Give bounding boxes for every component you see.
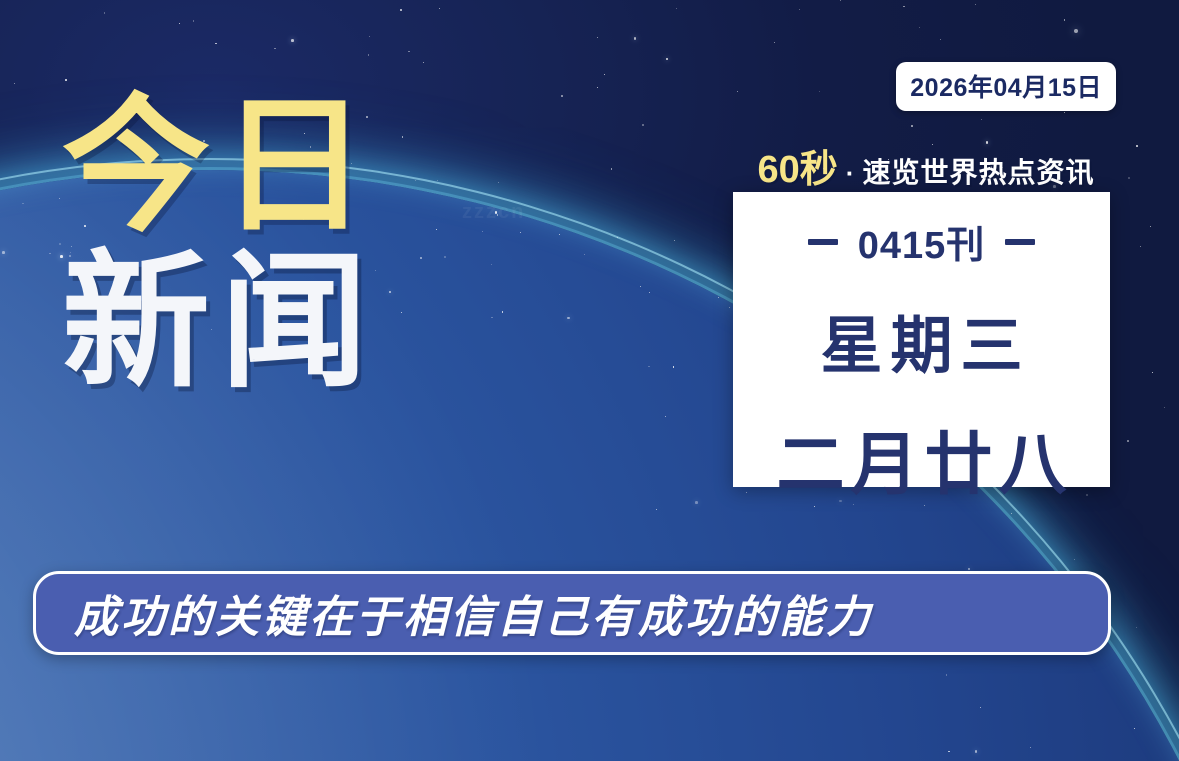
news-poster: zzzcn 今日 新闻 2026年04月15日 60秒 · 速览世界热点资讯 0… [0, 0, 1179, 761]
issue-row: 0415刊 [808, 214, 1036, 269]
brand-title-line1: 今日 [62, 96, 378, 238]
brand-title: 今日 新闻 [62, 96, 378, 394]
brand-title-line2: 新闻 [62, 252, 378, 394]
date-info-card: 0415刊 星期三 二月廿八 [733, 192, 1110, 487]
lunar-date-label: 二月廿八 [770, 409, 1072, 508]
strapline: 60秒 · 速览世界热点资讯 [740, 138, 1112, 193]
issue-label: 0415刊 [858, 214, 986, 269]
weekday-label: 星期三 [812, 295, 1030, 385]
quote-bar: 成功的关键在于相信自己有成功的能力 [33, 571, 1111, 655]
date-badge: 2026年04月15日 [896, 62, 1116, 111]
quote-text: 成功的关键在于相信自己有成功的能力 [36, 581, 873, 645]
strapline-seconds: 60秒 [758, 138, 838, 193]
strapline-separator-dot: · [844, 158, 857, 189]
strapline-text: 速览世界热点资讯 [862, 151, 1094, 191]
dash-left-icon [808, 239, 838, 245]
dash-right-icon [1005, 239, 1035, 245]
watermark-text: zzzcn [462, 201, 525, 224]
